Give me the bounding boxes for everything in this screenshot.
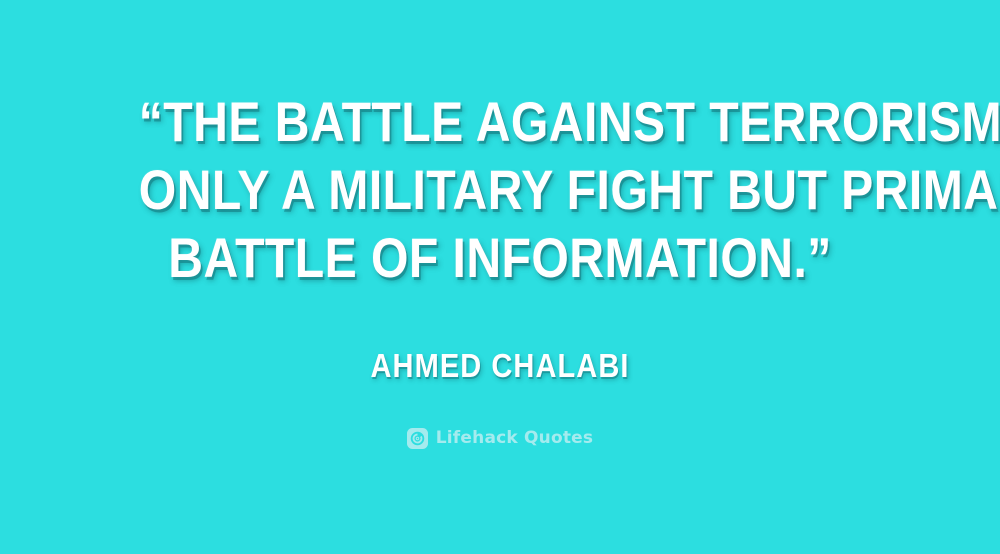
quote-line-2: ONLY A MILITARY FIGHT BUT PRIMARILY A — [139, 156, 861, 224]
author-name: AHMED CHALABI — [60, 347, 940, 385]
quote-line-1: “THE BATTLE AGAINST TERRORISM IS NOT — [139, 88, 861, 156]
quote-line-3: BATTLE OF INFORMATION.” — [139, 224, 861, 292]
footer-brand[interactable]: Lifehack Quotes — [0, 428, 1000, 449]
quote-text: “THE BATTLE AGAINST TERRORISM IS NOT ONL… — [0, 88, 1000, 292]
quote-card: “THE BATTLE AGAINST TERRORISM IS NOT ONL… — [0, 0, 1000, 554]
brand-name: Lifehack Quotes — [436, 428, 593, 449]
lifehack-circle-swirl-icon — [407, 428, 428, 449]
